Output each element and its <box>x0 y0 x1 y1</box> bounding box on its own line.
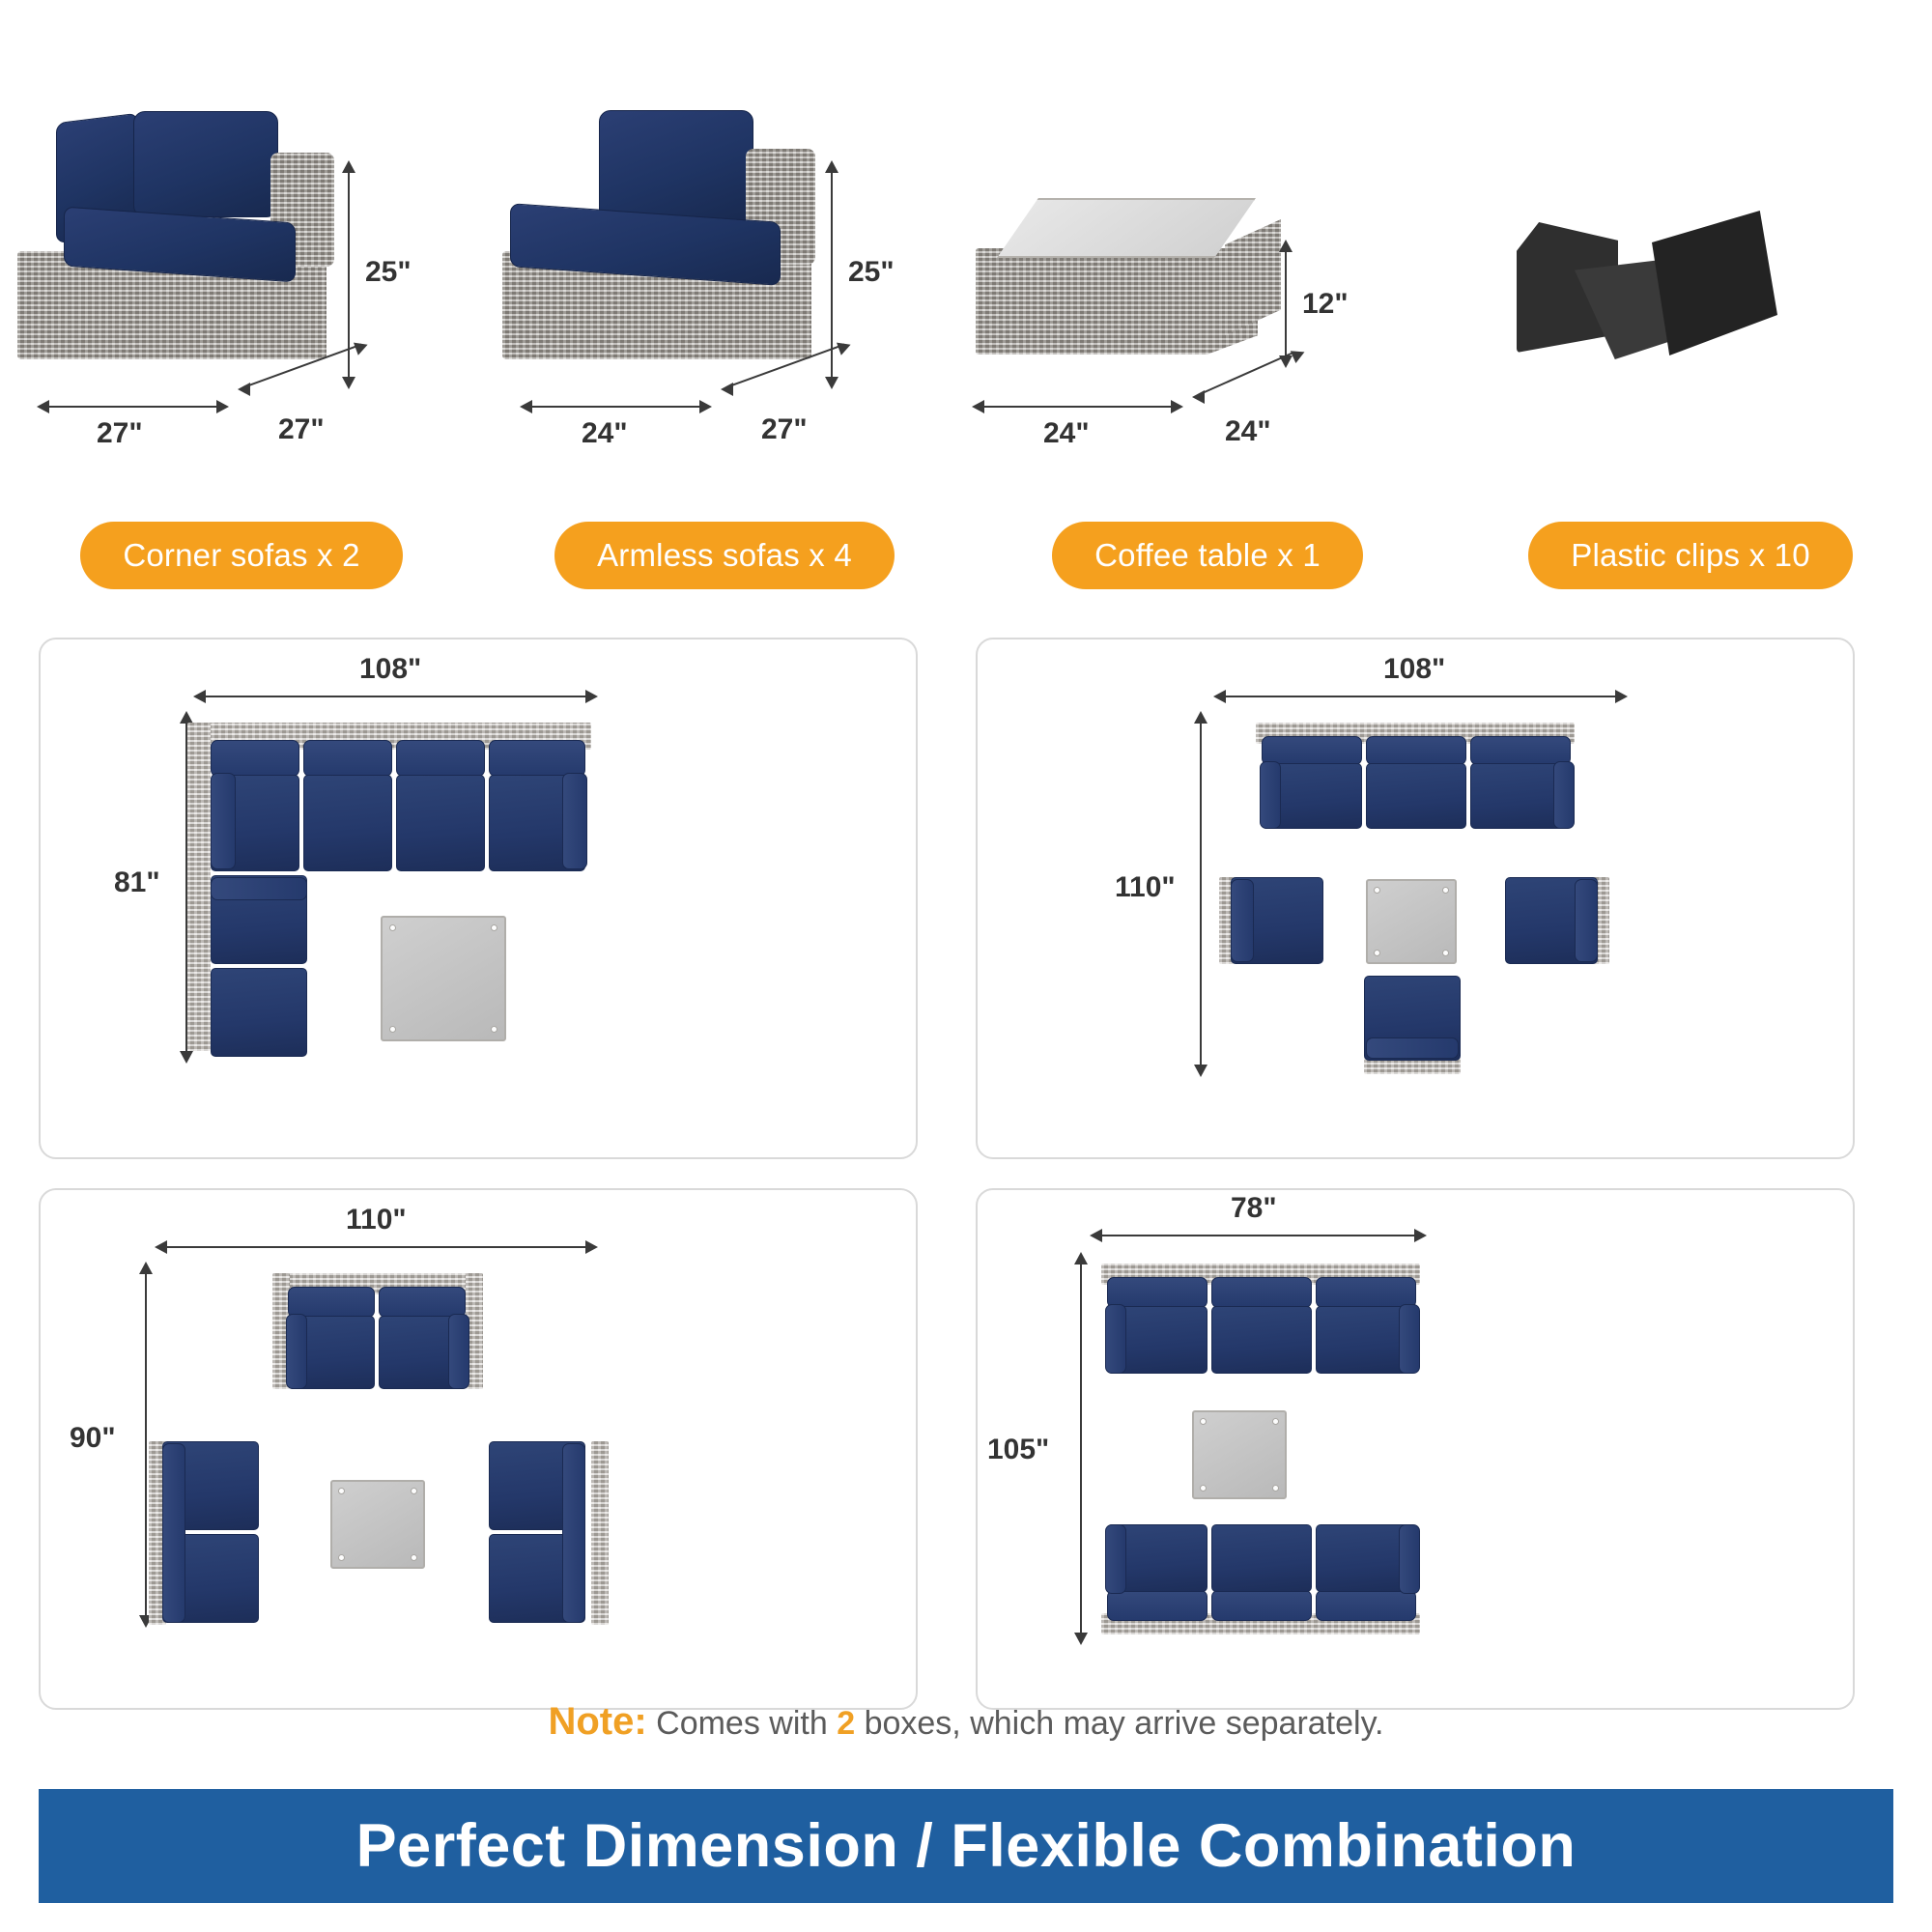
panel3-loveseat-arm-left <box>286 1314 307 1389</box>
coffee-table-width-arrow-right <box>1171 400 1183 413</box>
layout-panel-sofa-facing-chairs: 108" 110" <box>976 638 1855 1159</box>
coffee-table-height-line <box>1285 251 1287 355</box>
panel1-width-line <box>205 696 591 697</box>
panel2-bottom-chair-back <box>1366 1037 1459 1059</box>
armless-sofa-width-arrow-left <box>520 400 532 413</box>
corner-sofa-width-line <box>48 406 222 408</box>
table-screw <box>1200 1418 1207 1425</box>
table-screw <box>1442 887 1449 894</box>
coffee-table-depth-arrow-left <box>1192 390 1205 404</box>
table-screw <box>1272 1418 1279 1425</box>
panel4-top-sofa-arm-left <box>1105 1304 1126 1374</box>
panel4-bottom-sofa-back-1 <box>1107 1590 1207 1621</box>
panel3-loveseat-arm-right <box>448 1314 469 1389</box>
panel4-coffee-table <box>1192 1410 1287 1499</box>
product-plastic-clips <box>1449 58 1932 464</box>
panel4-depth-label: 105" <box>987 1434 1049 1466</box>
corner-sofa-width-label: 27" <box>97 417 143 450</box>
armless-sofa-height-line <box>831 172 833 377</box>
panel1-coffee-table <box>381 916 506 1041</box>
coffee-table-width-line <box>983 406 1177 408</box>
wicker-strip <box>591 1441 609 1625</box>
armless-sofa-illustration <box>502 106 821 367</box>
table-screw <box>1272 1485 1279 1492</box>
badge-cell-coffee-table: Coffee table x 1 <box>966 517 1449 594</box>
armless-sofa-height-arrow-top <box>825 160 838 173</box>
panel3-width-label: 110" <box>346 1204 407 1236</box>
panel2-sofa-seat-2 <box>1366 763 1466 829</box>
corner-sofa-back-right-cushion <box>133 111 278 217</box>
panel4-width-arrow-left <box>1090 1229 1102 1242</box>
product-corner-sofa: 25" 27" 27" <box>0 58 483 464</box>
panel3-width-arrow-right <box>585 1240 598 1254</box>
panel2-right-chair-back <box>1575 879 1598 962</box>
panel1-width-label: 108" <box>359 653 421 686</box>
table-screw <box>1200 1485 1207 1492</box>
panel2-depth-arrow-bottom <box>1194 1065 1207 1077</box>
corner-sofa-width-arrow-left <box>37 400 49 413</box>
badge-cell-corner-sofa: Corner sofas x 2 <box>0 517 483 594</box>
part-badges-row: Corner sofas x 2 Armless sofas x 4 Coffe… <box>0 517 1932 594</box>
panel2-width-arrow-left <box>1213 690 1226 703</box>
panel2-depth-arrow-top <box>1194 711 1207 724</box>
panel4-top-sofa-arm-right <box>1399 1304 1420 1374</box>
corner-sofa-height-arrow-top <box>342 160 355 173</box>
coffee-table-side <box>1225 219 1281 335</box>
armless-sofa-depth-label: 27" <box>761 413 808 446</box>
coffee-table-width-arrow-left <box>972 400 984 413</box>
panel3-left-chair-back <box>162 1443 185 1623</box>
panel4-bottom-sofa-back-3 <box>1316 1590 1416 1621</box>
coffee-table-height-label: 12" <box>1302 288 1349 321</box>
table-screw <box>338 1488 345 1494</box>
armless-sofa-back-cushion <box>599 110 753 224</box>
panel1-arm-left <box>211 773 236 869</box>
panel4-top-sofa-seat-2 <box>1211 1306 1312 1374</box>
corner-sofa-width-arrow-right <box>216 400 229 413</box>
armless-sofa-width-label: 24" <box>582 417 628 450</box>
panel2-depth-label: 110" <box>1115 871 1176 904</box>
table-screw <box>411 1554 417 1561</box>
panel4-depth-arrow-bottom <box>1074 1633 1088 1645</box>
panel1-back-cushion-3 <box>396 740 485 777</box>
panel1-back-cushion-1 <box>211 740 299 777</box>
corner-sofa-depth-arrow-left <box>238 383 250 396</box>
corner-sofa-illustration <box>17 106 336 367</box>
table-screw <box>1374 887 1380 894</box>
panel4-width-line <box>1101 1235 1420 1236</box>
panel4-top-sofa-back-3 <box>1316 1277 1416 1308</box>
panel3-coffee-table <box>330 1480 425 1569</box>
note-text-after: boxes, which may arrive separately. <box>865 1705 1384 1742</box>
badge-plastic-clips: Plastic clips x 10 <box>1528 522 1853 589</box>
panel1-width-arrow-right <box>585 690 598 703</box>
panel2-left-chair-back <box>1231 879 1254 962</box>
corner-sofa-height-arrow-bottom <box>342 377 355 389</box>
armless-sofa-height-arrow-bottom <box>825 377 838 389</box>
panel2-depth-line <box>1200 723 1202 1065</box>
badge-cell-plastic-clips: Plastic clips x 10 <box>1449 517 1932 594</box>
armless-sofa-depth-arrow-right <box>837 338 853 355</box>
panel2-sofa-arm-left <box>1260 761 1281 829</box>
badge-armless-sofas: Armless sofas x 4 <box>554 522 895 589</box>
panel3-width-line <box>166 1246 591 1248</box>
panel3-depth-arrow-top <box>139 1262 153 1274</box>
product-coffee-table: 12" 24" 24" <box>966 58 1449 464</box>
table-screw <box>1442 950 1449 956</box>
panel1-arm-vertical-top <box>211 877 307 900</box>
layout-panel-two-facing-sofas: 78" 105" <box>976 1188 1855 1710</box>
panel4-depth-arrow-top <box>1074 1252 1088 1264</box>
panel3-right-chair-back <box>562 1443 585 1623</box>
layout-panel-l-shape: 108" 81" <box>39 638 918 1159</box>
panel1-depth-label: 81" <box>114 867 160 899</box>
panel4-top-sofa-back-1 <box>1107 1277 1207 1308</box>
badge-cell-armless-sofa: Armless sofas x 4 <box>483 517 966 594</box>
table-screw <box>389 1026 396 1033</box>
corner-sofa-height-line <box>348 172 350 377</box>
panel4-top-sofa-back-2 <box>1211 1277 1312 1308</box>
note-text-before: Comes with <box>656 1705 828 1742</box>
panel2-width-line <box>1225 696 1621 697</box>
panel4-bottom-sofa-arm-left <box>1105 1524 1126 1594</box>
coffee-table-width-label: 24" <box>1043 417 1090 450</box>
panel1-seat-3 <box>396 775 485 871</box>
panel2-sofa-arm-right <box>1553 761 1575 829</box>
corner-sofa-depth-label: 27" <box>278 413 325 446</box>
panel2-sofa-back-3 <box>1470 736 1571 765</box>
coffee-table-body <box>976 248 1258 355</box>
product-parts-row: 25" 27" 27" 25" 24" 27" <box>0 58 1932 464</box>
table-screw <box>491 924 497 931</box>
panel4-width-label: 78" <box>1231 1192 1277 1225</box>
coffee-table-glass-top <box>997 198 1256 258</box>
panel3-right-chair-wicker <box>591 1441 609 1625</box>
table-screw <box>491 1026 497 1033</box>
panel3-depth-label: 90" <box>70 1422 116 1455</box>
panel1-width-arrow-left <box>193 690 206 703</box>
panel1-back-cushion-2 <box>303 740 392 777</box>
wicker-strip <box>187 723 211 1051</box>
badge-corner-sofas: Corner sofas x 2 <box>80 522 402 589</box>
plastic-clip-right-wing <box>1652 211 1777 355</box>
panel3-width-arrow-left <box>155 1240 167 1254</box>
corner-sofa-height-label: 25" <box>365 256 412 289</box>
panel4-bottom-sofa-seat-2 <box>1211 1524 1312 1592</box>
panel1-left-wicker-strip <box>187 723 211 1051</box>
panel3-depth-line <box>145 1273 147 1615</box>
note-highlight-count: 2 <box>837 1705 855 1742</box>
table-screw <box>389 924 396 931</box>
panel2-width-label: 108" <box>1383 653 1445 686</box>
panel1-seat-6 <box>211 968 307 1057</box>
panel4-bottom-sofa-back-2 <box>1211 1590 1312 1621</box>
corner-sofa-depth-arrow-right <box>354 338 370 355</box>
panel4-depth-line <box>1080 1264 1082 1633</box>
panel2-coffee-table <box>1366 879 1457 964</box>
table-screw <box>338 1554 345 1561</box>
armless-sofa-height-label: 25" <box>848 256 895 289</box>
armless-sofa-width-line <box>531 406 705 408</box>
panel2-sofa-back-2 <box>1366 736 1466 765</box>
table-screw <box>411 1488 417 1494</box>
panel4-width-arrow-right <box>1414 1229 1427 1242</box>
footer-banner-headline: Perfect Dimension / Flexible Combination <box>356 1811 1577 1881</box>
panel1-seat-2 <box>303 775 392 871</box>
note-lead-label: Note: <box>548 1700 646 1743</box>
coffee-table-illustration <box>976 198 1304 367</box>
plastic-clip-illustration <box>1507 193 1835 386</box>
panel2-width-arrow-right <box>1615 690 1628 703</box>
armless-sofa-width-arrow-right <box>699 400 712 413</box>
footer-banner: Perfect Dimension / Flexible Combination <box>39 1789 1893 1903</box>
coffee-table-depth-label: 24" <box>1225 415 1271 448</box>
table-screw <box>1374 950 1380 956</box>
note-line: Note: Comes with 2 boxes, which may arri… <box>0 1700 1932 1744</box>
product-armless-sofa: 25" 24" 27" <box>483 58 966 464</box>
panel4-bottom-sofa-arm-right <box>1399 1524 1420 1594</box>
panel1-depth-arrow-bottom <box>180 1051 193 1064</box>
panel1-back-cushion-4 <box>489 740 585 777</box>
panel1-arm-right <box>562 773 587 869</box>
coffee-table-height-arrow-top <box>1279 240 1293 252</box>
armless-sofa-depth-arrow-left <box>721 383 733 396</box>
badge-coffee-table: Coffee table x 1 <box>1052 522 1363 589</box>
layout-panel-loveseat-two-chairs: 110" 90" <box>39 1188 918 1710</box>
